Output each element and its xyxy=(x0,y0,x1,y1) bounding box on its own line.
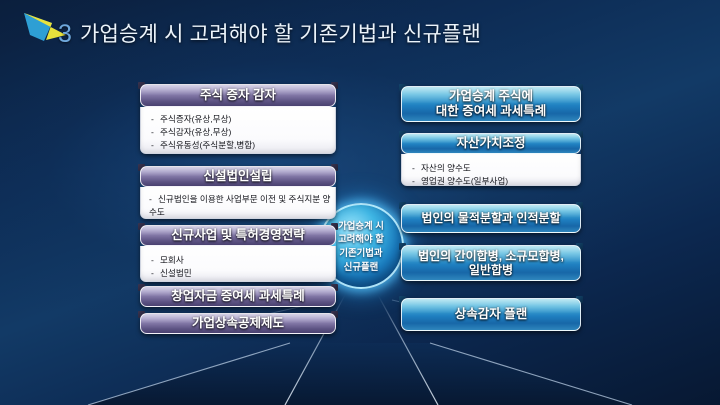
list-item: -자산의 양수도 xyxy=(412,162,576,175)
right-card-3-title: 법인의 물적분할과 인적분할 xyxy=(401,204,581,233)
right-card-1-title: 가업승계 주식에 대한 증여세 과세특례 xyxy=(401,86,581,122)
list-item: -영업권 양수도(일부사업) xyxy=(412,175,576,188)
right-card-5-title: 상속감자 플랜 xyxy=(401,298,581,331)
left-card-4[interactable]: 창업자금 증여세 과세특례 xyxy=(140,286,336,307)
left-card-3[interactable]: 신규사업 및 특허경영전략 -모회사 -신설법민 xyxy=(140,225,336,282)
left-card-2-title: 신설법인설립 xyxy=(140,166,336,187)
list-item: -모회사 xyxy=(151,254,331,267)
left-card-1[interactable]: 주식 증자 감자 -주식증자(유상,무상) -주식감자(유상,무상) -주식유동… xyxy=(140,84,336,154)
list-item: -주식유동성(주식분할,병합) xyxy=(151,139,331,152)
right-card-2[interactable]: 자산가치조정 -자산의 양수도 -영업권 양수도(일부사업) xyxy=(401,133,581,186)
right-card-5[interactable]: 상속감자 플랜 xyxy=(401,298,581,331)
left-card-2-body: -신규법인을 이용한 사업부문 이전 및 주식지분 양수도 xyxy=(140,187,336,219)
right-card-1[interactable]: 가업승계 주식에 대한 증여세 과세특례 xyxy=(401,86,581,122)
right-card-2-body: -자산의 양수도 -영업권 양수도(일부사업) xyxy=(401,154,581,186)
left-card-3-body: -모회사 -신설법민 xyxy=(140,246,336,282)
slide-title-bar: 3 가업승계 시 고려해야 할 기존기법과 신규플랜 xyxy=(0,0,720,62)
left-card-1-body: -주식증자(유상,무상) -주식감자(유상,무상) -주식유동성(주식분할,병합… xyxy=(140,107,336,154)
left-card-5[interactable]: 가업상속공제제도 xyxy=(140,313,336,334)
left-card-5-title: 가업상속공제제도 xyxy=(140,313,336,334)
page-title: 가업승계 시 고려해야 할 기존기법과 신규플랜 xyxy=(80,18,481,48)
list-item: -신규법인을 이용한 사업부문 이전 및 주식지분 양수도 xyxy=(149,193,331,219)
right-card-4-title: 법인의 간이합병, 소규모합병, 일반합병 xyxy=(401,245,581,281)
right-card-2-title: 자산가치조정 xyxy=(401,133,581,154)
left-card-2[interactable]: 신설법인설립 -신규법인을 이용한 사업부문 이전 및 주식지분 양수도 xyxy=(140,166,336,219)
slide-number: 3 xyxy=(58,20,72,49)
list-item: -주식증자(유상,무상) xyxy=(151,113,331,126)
list-item: -신설법민 xyxy=(151,267,331,280)
left-card-4-title: 창업자금 증여세 과세특례 xyxy=(140,286,336,307)
right-card-3[interactable]: 법인의 물적분할과 인적분할 xyxy=(401,204,581,233)
list-item: -주식감자(유상,무상) xyxy=(151,126,331,139)
right-card-4[interactable]: 법인의 간이합병, 소규모합병, 일반합병 xyxy=(401,245,581,281)
left-card-3-title: 신규사업 및 특허경영전략 xyxy=(140,225,336,246)
center-hub-label: 가업승계 시 고려해야 할 기존기법과 신규플랜 xyxy=(338,219,384,274)
left-card-1-title: 주식 증자 감자 xyxy=(140,84,336,107)
slide-canvas: 3 가업승계 시 고려해야 할 기존기법과 신규플랜 가업승계 시 고려해야 할… xyxy=(0,0,720,405)
